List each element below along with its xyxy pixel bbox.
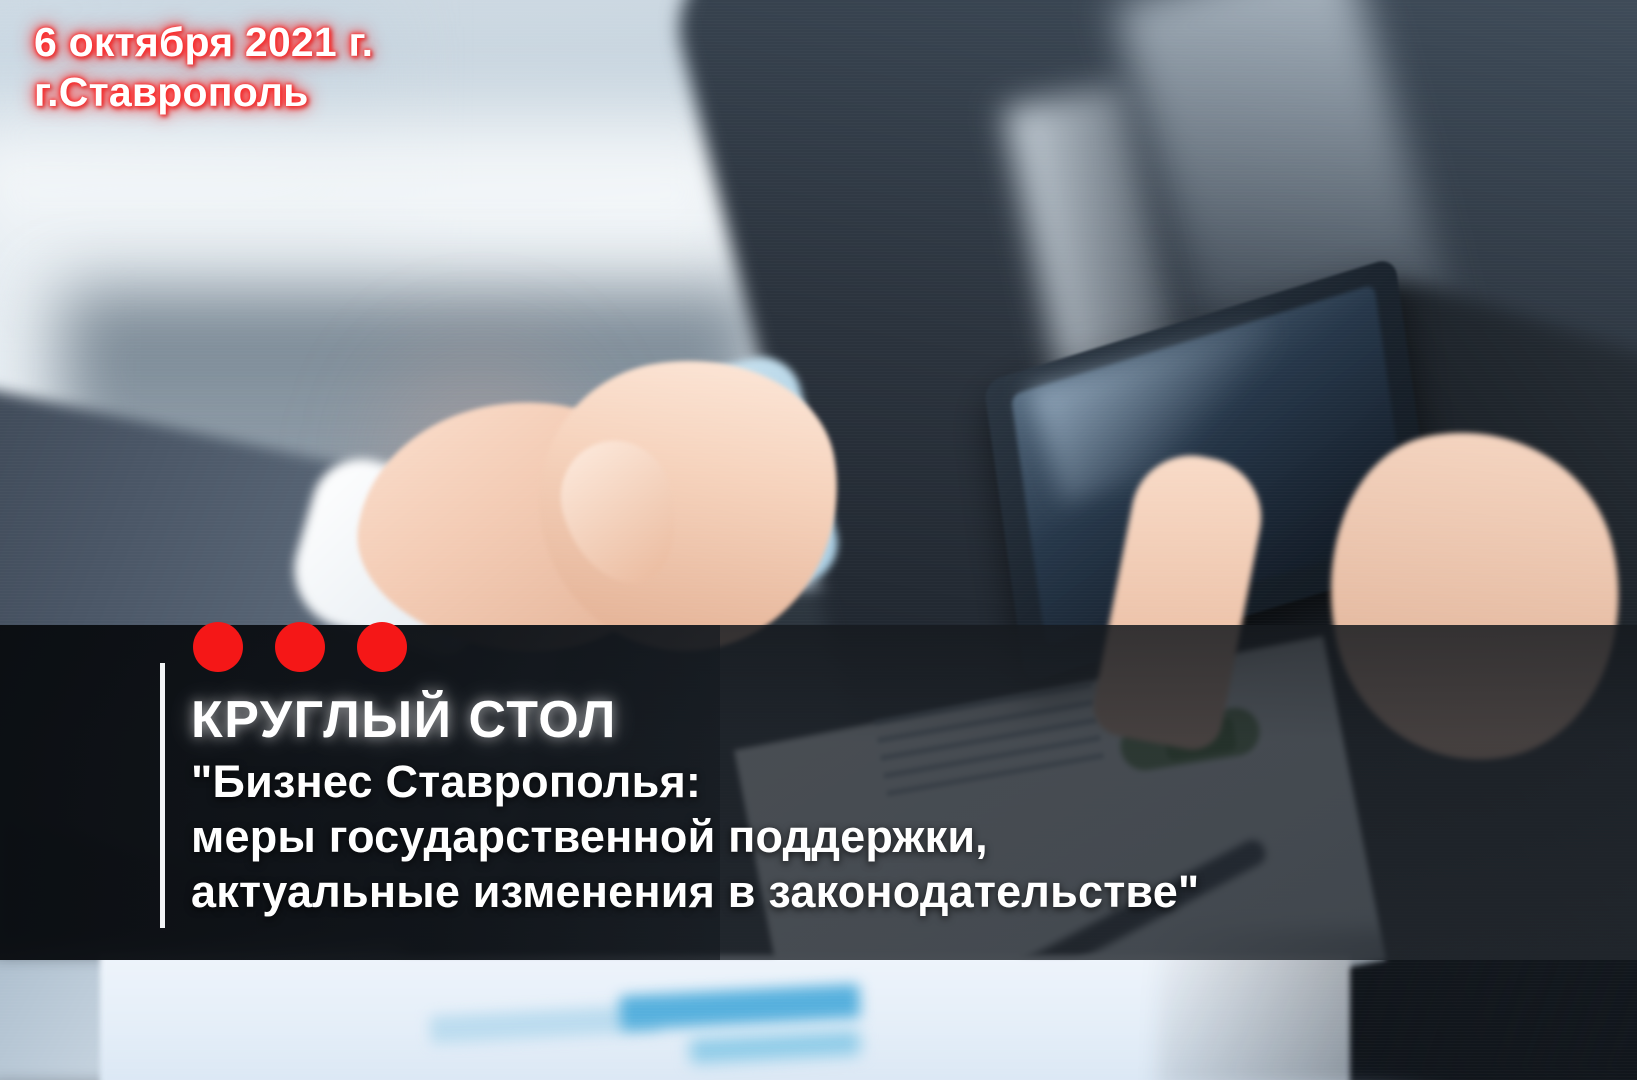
- event-announcement-banner: 6 октября 2021 г. г.Ставрополь ФППСК АКТ…: [0, 0, 1637, 1080]
- title-vertical-rule: [160, 663, 165, 928]
- red-dot-icon: [193, 622, 243, 672]
- event-title: "Бизнес Ставрополья: меры государственно…: [191, 755, 1531, 920]
- red-dot-icon: [357, 622, 407, 672]
- event-type-kicker: КРУГЛЫЙ СТОЛ: [191, 690, 617, 750]
- red-dot-icon: [275, 622, 325, 672]
- event-date-location: 6 октября 2021 г. г.Ставрополь: [34, 17, 373, 117]
- red-dots-decoration: [193, 622, 407, 672]
